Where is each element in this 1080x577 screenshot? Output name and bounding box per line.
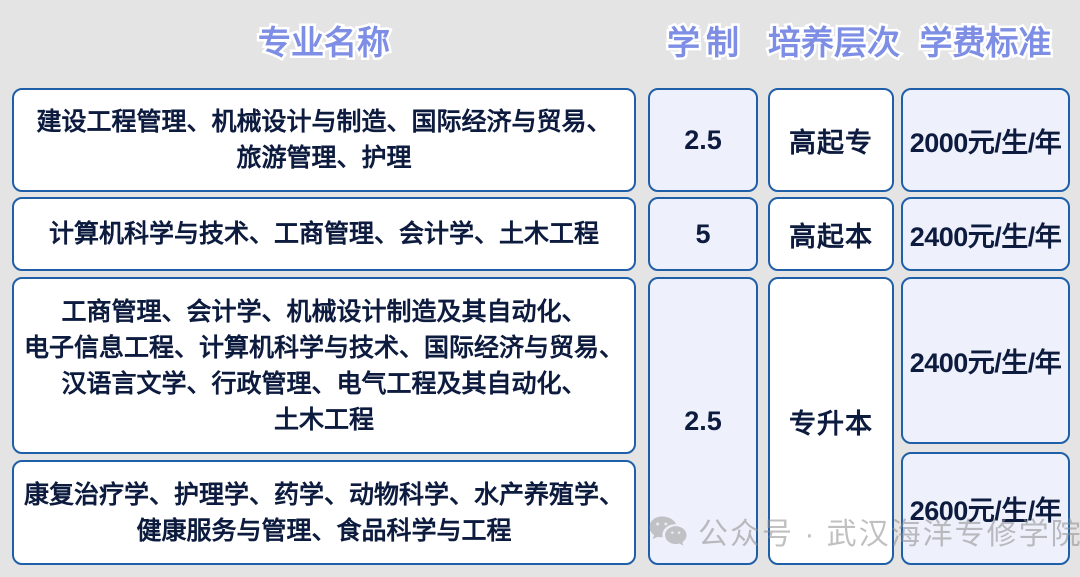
major-line: 计算机科学与技术、工商管理、会计学、土木工程 (24, 216, 624, 252)
table-cell-level-row1: 高起专 (768, 88, 894, 192)
infographic-table-page: 专业名称 学制 培养层次 学费标准 建设工程管理、机械设计与制造、国际经济与贸易… (0, 0, 1080, 577)
table-cell-level-row2: 高起本 (768, 197, 894, 271)
major-line: 工商管理、会计学、机械设计制造及其自动化、 (61, 298, 586, 326)
table-cell-years-row3-4-merged: 2.5 (648, 277, 758, 565)
table-cell-level-row3-4-merged: 专升本 (768, 277, 894, 565)
major-line: 康复治疗学、护理学、药学、动物科学、水产养殖学、 (24, 481, 624, 509)
table-cell-major-row2: 计算机科学与技术、工商管理、会计学、土木工程 (12, 197, 636, 271)
table-cell-fee-row4: 2600元/生/年 (901, 452, 1070, 565)
column-header-level: 培养层次 (768, 20, 894, 66)
table-cell-fee-row3: 2400元/生/年 (901, 277, 1070, 444)
table-cell-fee-row1: 2000元/生/年 (901, 88, 1070, 192)
table-cell-fee-row2: 2400元/生/年 (901, 197, 1070, 271)
table-cell-years-row1: 2.5 (648, 88, 758, 192)
major-line: 健康服务与管理、食品科学与工程 (136, 517, 511, 545)
major-line: 旅游管理、护理 (236, 144, 411, 172)
major-line: 土木工程 (274, 406, 374, 434)
column-header-fee: 学费标准 (901, 20, 1070, 66)
table-cell-major-row3: 工商管理、会计学、机械设计制造及其自动化、 电子信息工程、计算机科学与技术、国际… (12, 277, 636, 454)
table-cell-major-row1: 建设工程管理、机械设计与制造、国际经济与贸易、 旅游管理、护理 (12, 88, 636, 192)
major-line: 建设工程管理、机械设计与制造、国际经济与贸易、 (36, 108, 611, 136)
column-header-years: 学制 (648, 20, 758, 66)
table-header-row: 专业名称 学制 培养层次 学费标准 (0, 0, 1080, 84)
table-cell-major-row4: 康复治疗学、护理学、药学、动物科学、水产养殖学、 健康服务与管理、食品科学与工程 (12, 460, 636, 565)
major-line: 汉语言文学、行政管理、电气工程及其自动化、 (61, 370, 586, 398)
table-cell-years-row2: 5 (648, 197, 758, 271)
column-header-major: 专业名称 (12, 20, 636, 66)
major-line: 电子信息工程、计算机科学与技术、国际经济与贸易、 (24, 334, 624, 362)
